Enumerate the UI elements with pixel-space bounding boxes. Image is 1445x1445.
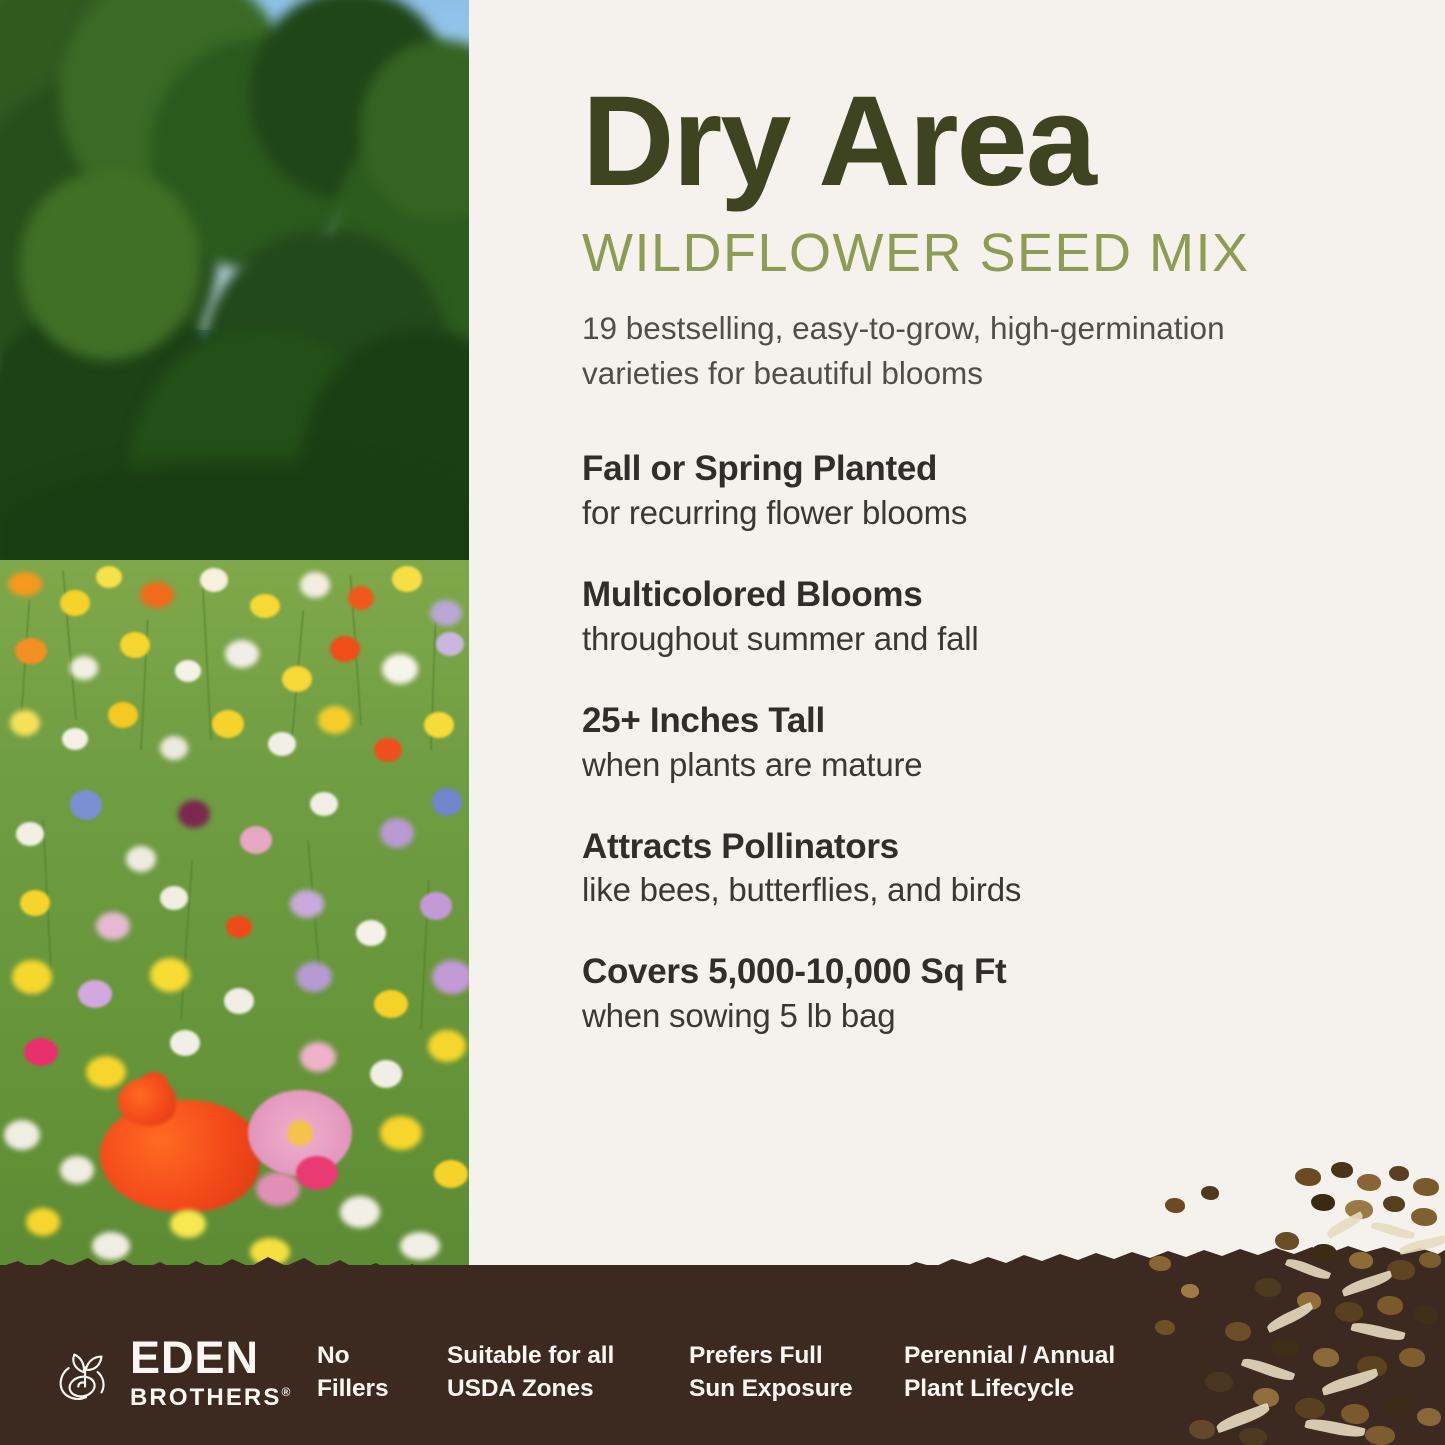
- feature-heading: Multicolored Blooms: [582, 573, 1362, 618]
- footer-column-line1: Suitable for all: [447, 1340, 689, 1373]
- footer-column-line1: Perennial / Annual: [904, 1340, 1164, 1373]
- treeline: [0, 0, 472, 600]
- photo-edge: [469, 0, 472, 1300]
- product-description: 19 bestselling, easy-to-grow, high-germi…: [582, 306, 1327, 395]
- product-details: Dry Area WILDFLOWER SEED MIX 19 bestsell…: [582, 0, 1362, 1300]
- feature-heading: 25+ Inches Tall: [582, 699, 1362, 744]
- feature-heading: Covers 5,000-10,000 Sq Ft: [582, 950, 1362, 995]
- feature-item: Covers 5,000-10,000 Sq Ft when sowing 5 …: [582, 950, 1362, 1038]
- footer-column-line2: Plant Lifecycle: [904, 1373, 1164, 1406]
- eden-brothers-logo[interactable]: EDEN BROTHERS®: [55, 1335, 305, 1410]
- footer-bar: EDEN BROTHERS® No Fillers Suitable for a…: [0, 1265, 1445, 1445]
- footer-column-line2: Fillers: [317, 1373, 447, 1406]
- feature-item: Multicolored Blooms throughout summer an…: [582, 573, 1362, 661]
- feature-item: Attracts Pollinators like bees, butterfl…: [582, 825, 1362, 913]
- footer-column-sun-exposure: Prefers Full Sun Exposure: [689, 1340, 904, 1405]
- feature-item: 25+ Inches Tall when plants are mature: [582, 699, 1362, 787]
- feature-subtext: when sowing 5 lb bag: [582, 995, 1362, 1038]
- registered-mark: ®: [281, 1385, 290, 1399]
- torn-soil-edge: [0, 1245, 1445, 1305]
- page-title: Dry Area: [582, 78, 1362, 206]
- feature-subtext: throughout summer and fall: [582, 618, 1362, 661]
- footer-column-no-fillers: No Fillers: [317, 1340, 447, 1405]
- feature-subtext: for recurring flower blooms: [582, 492, 1362, 535]
- logo-brothers-text: BROTHERS®: [130, 1386, 290, 1410]
- feature-item: Fall or Spring Planted for recurring flo…: [582, 447, 1362, 535]
- feature-heading: Attracts Pollinators: [582, 825, 1362, 870]
- torn-edge-shape: [0, 1245, 1445, 1305]
- sprout-seed-icon: [55, 1342, 117, 1404]
- feature-subtext: when plants are mature: [582, 744, 1362, 787]
- wildflower-meadow-photo: [0, 0, 472, 1300]
- feature-heading: Fall or Spring Planted: [582, 447, 1362, 492]
- footer-column-plant-lifecycle: Perennial / Annual Plant Lifecycle: [904, 1340, 1164, 1405]
- footer-column-line1: No: [317, 1340, 447, 1373]
- product-infographic: Dry Area WILDFLOWER SEED MIX 19 bestsell…: [0, 0, 1445, 1445]
- product-subtitle: WILDFLOWER SEED MIX: [582, 222, 1362, 284]
- footer-column-line2: USDA Zones: [447, 1373, 689, 1406]
- footer-column-line2: Sun Exposure: [689, 1373, 904, 1406]
- feature-list: Fall or Spring Planted for recurring flo…: [582, 447, 1362, 1037]
- wildflower-meadow: [0, 560, 472, 1300]
- feature-subtext: like bees, butterflies, and birds: [582, 869, 1362, 912]
- footer-content: EDEN BROTHERS® No Fillers Suitable for a…: [0, 1300, 1445, 1445]
- logo-eden-text: EDEN: [130, 1335, 290, 1380]
- logo-wordmark: EDEN BROTHERS®: [130, 1335, 290, 1410]
- footer-feature-columns: No Fillers Suitable for all USDA Zones P…: [305, 1340, 1445, 1405]
- footer-column-line1: Prefers Full: [689, 1340, 904, 1373]
- footer-column-usda-zones: Suitable for all USDA Zones: [447, 1340, 689, 1405]
